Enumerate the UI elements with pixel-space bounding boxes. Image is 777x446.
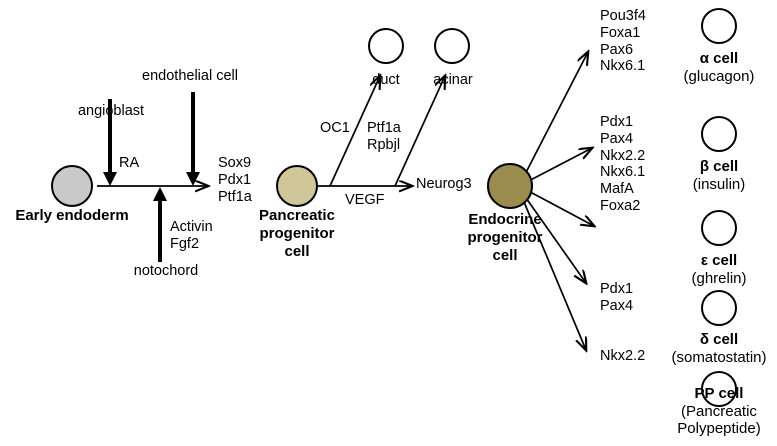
endothelial-cell-label: endothelial cell <box>142 68 238 85</box>
beta-cell-name: β cell <box>700 158 738 175</box>
epsilon-cell-name: ε cell <box>701 252 737 269</box>
pancreatic-progenitor-label-line2: progenitor <box>260 225 335 242</box>
alpha-cell-genes: Pou3f4 Foxa1 Pax6 Nkx6.1 <box>600 8 646 75</box>
endocrine-progenitor-cell <box>487 163 533 209</box>
pathway-diagram: duct acinar endothelial cell angioblast … <box>0 0 777 446</box>
pp-cell-genes: Nkx2.2 <box>600 348 645 365</box>
arrow-to-alpha-cell <box>519 52 588 186</box>
oc1-label: OC1 <box>320 120 350 137</box>
neurog3-label: Neurog3 <box>416 176 472 193</box>
arrow-to-acinar <box>395 76 445 186</box>
notochord-label: notochord <box>134 263 199 280</box>
acinar-label: acinar <box>433 72 473 89</box>
delta-cell-genes: Pdx1 Pax4 <box>600 281 633 315</box>
pancreatic-progenitor-label-line3: cell <box>284 243 309 260</box>
endocrine-progenitor-label-line2: progenitor <box>468 229 543 246</box>
epsilon-cell <box>701 210 737 246</box>
duct-cell <box>368 28 404 64</box>
activin-fgf2-label: Activin Fgf2 <box>170 219 213 252</box>
angioblast-label: angioblast <box>78 103 144 120</box>
acinar-cell <box>434 28 470 64</box>
delta-cell-hormone: (somatostatin) <box>671 349 766 366</box>
beta-cell <box>701 116 737 152</box>
delta-cell <box>701 290 737 326</box>
vegf-label: VEGF <box>345 192 384 209</box>
alpha-cell-name: α cell <box>700 50 738 67</box>
duct-label: duct <box>372 72 399 89</box>
arrowhead-ra <box>103 172 117 186</box>
alpha-cell-hormone: (glucagon) <box>684 68 755 85</box>
arrowhead-notochord <box>153 187 167 201</box>
pancreatic-progenitor-markers: Sox9 Pdx1 Ptf1a <box>218 155 252 205</box>
endocrine-progenitor-label-line1: Endocrine <box>468 211 541 228</box>
pp-cell-name: PP cell <box>695 385 744 402</box>
alpha-cell <box>701 8 737 44</box>
epsilon-cell-hormone: (ghrelin) <box>691 270 746 287</box>
ptf1a-rpbjl-label: Ptf1a Rpbjl <box>367 120 401 153</box>
delta-cell-name: δ cell <box>700 331 738 348</box>
arrowhead-endothelial <box>186 172 200 186</box>
ra-label: RA <box>119 155 139 172</box>
beta-cell-genes: Pdx1 Pax4 Nkx2.2 Nkx6.1 MafA Foxa2 <box>600 114 645 215</box>
beta-cell-hormone: (insulin) <box>693 176 746 193</box>
endocrine-progenitor-label-line3: cell <box>492 247 517 264</box>
pancreatic-progenitor-label-line1: Pancreatic <box>259 207 335 224</box>
pancreatic-progenitor-cell <box>276 165 318 207</box>
early-endoderm-label: Early endoderm <box>15 207 128 224</box>
pp-cell-hormone: (Pancreatic Polypeptide) <box>677 403 760 437</box>
early-endoderm-cell <box>51 165 93 207</box>
